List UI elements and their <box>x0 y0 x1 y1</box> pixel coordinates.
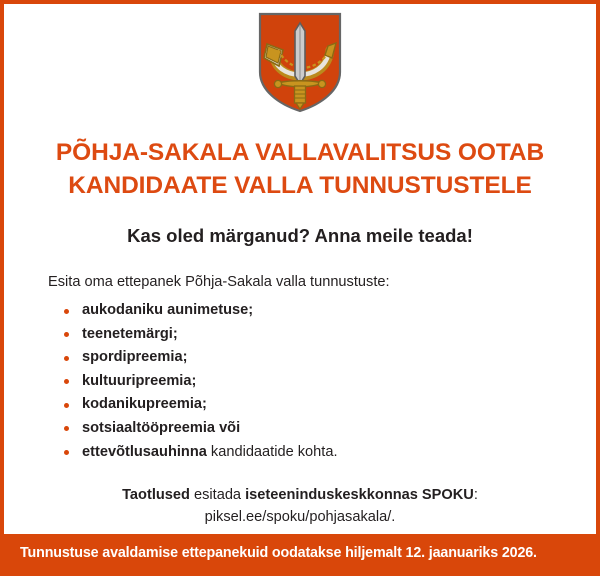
application-info: Taotlused esitada iseteeninduskeskkonnas… <box>4 484 596 528</box>
list-item-label: kodanikupreemia; <box>82 396 207 412</box>
application-suffix: : <box>474 487 478 503</box>
page-title: PÕHJA-SAKALA VALLAVALITSUS OOTAB KANDIDA… <box>4 136 596 202</box>
bullet-icon <box>64 403 69 408</box>
pohja-sakala-coat-of-arms-icon <box>256 10 344 114</box>
application-instruction: Taotlused esitada iseteeninduskeskkonnas… <box>44 484 556 506</box>
list-item: ettevõtlusauhinna kandidaatide kohta. <box>48 441 566 465</box>
nomination-categories-list: aukodaniku aunimetuse; teenetemärgi; spo… <box>48 299 566 464</box>
list-item: kodanikupreemia; <box>48 393 566 417</box>
list-item: teenetemärgi; <box>48 323 566 347</box>
application-middle: esitada <box>190 487 245 503</box>
application-prefix: Taotlused <box>122 487 190 503</box>
coat-of-arms-container <box>4 10 596 116</box>
list-item-label: teenetemärgi; <box>82 326 178 342</box>
list-item: kultuuripreemia; <box>48 370 566 394</box>
body-section: Esita oma ettepanek Põhja-Sakala valla t… <box>4 273 596 464</box>
deadline-text: Tunnustuse avaldamise ettepanekuid oodat… <box>20 544 537 562</box>
list-item-label: sotsiaaltööpreemia või <box>82 420 240 436</box>
subtitle: Kas oled märganud? Anna meile teada! <box>4 224 596 248</box>
list-item-label: kultuuripreemia; <box>82 373 196 389</box>
bullet-icon <box>64 332 69 337</box>
list-item-label: spordipreemia; <box>82 349 187 365</box>
bullet-icon <box>64 450 69 455</box>
poster-container: PÕHJA-SAKALA VALLAVALITSUS OOTAB KANDIDA… <box>0 0 600 576</box>
application-channel: iseteeninduskeskkonnas SPOKU <box>245 487 474 503</box>
bullet-icon <box>64 356 69 361</box>
intro-text: Esita oma ettepanek Põhja-Sakala valla t… <box>48 273 566 292</box>
bullet-icon <box>64 309 69 314</box>
list-item: aukodaniku aunimetuse; <box>48 299 566 323</box>
title-line-2: KANDIDAATE VALLA TUNNUSTUSTELE <box>34 169 566 202</box>
title-line-1: PÕHJA-SAKALA VALLAVALITSUS OOTAB <box>34 136 566 169</box>
bullet-icon <box>64 426 69 431</box>
list-item-label: aukodaniku aunimetuse; <box>82 302 253 318</box>
list-item-tail: kandidaatide kohta. <box>207 444 338 460</box>
deadline-footer-bar: Tunnustuse avaldamise ettepanekuid oodat… <box>4 534 596 572</box>
list-item: sotsiaaltööpreemia või <box>48 417 566 441</box>
application-url[interactable]: piksel.ee/spoku/pohjasakala/. <box>44 506 556 528</box>
list-item: spordipreemia; <box>48 346 566 370</box>
bullet-icon <box>64 379 69 384</box>
list-item-label: ettevõtlusauhinna <box>82 444 207 460</box>
